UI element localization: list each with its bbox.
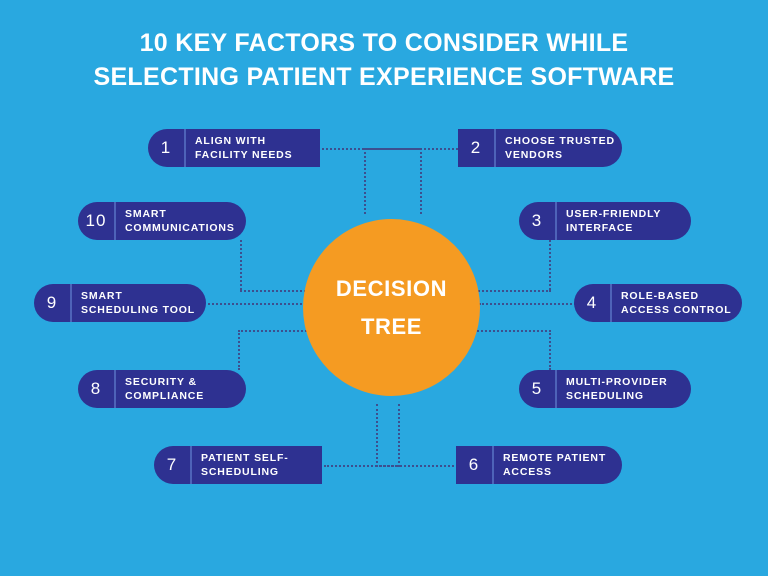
node-10-label-line-1: SMART [125, 207, 236, 221]
node-3-label-line-1: USER-FRIENDLY [566, 207, 681, 221]
node-8-label-line-1: SECURITY & [125, 375, 236, 389]
node-9-number: 9 [34, 284, 72, 322]
node-8-label: SECURITY & COMPLIANCE [116, 370, 246, 408]
node-6-label: REMOTE PATIENT ACCESS [494, 446, 622, 484]
node-10-label-line-2: COMMUNICATIONS [125, 221, 236, 235]
node-4-number: 4 [574, 284, 612, 322]
node-3-label: USER-FRIENDLY INTERFACE [557, 202, 691, 240]
center-label-line-2: TREE [361, 308, 422, 345]
node-1-number: 1 [148, 129, 186, 167]
connector-node-1-vertical [420, 148, 422, 214]
node-5-label-line-2: SCHEDULING [566, 389, 681, 403]
connector-node-8-vertical [238, 330, 240, 370]
node-7-label-line-2: SCHEDULING [201, 465, 312, 479]
node-6-label-line-1: REMOTE PATIENT [503, 451, 612, 465]
node-5-multi-provider-scheduling[interactable]: 5 MULTI-PROVIDER SCHEDULING [519, 370, 691, 408]
infographic-canvas: 10 KEY FACTORS TO CONSIDER WHILE SELECTI… [0, 0, 768, 576]
node-1-label-line-1: ALIGN WITH [195, 134, 310, 148]
node-9-label-line-1: SMART [81, 289, 196, 303]
node-5-label-line-1: MULTI-PROVIDER [566, 375, 681, 389]
node-10-number: 10 [78, 202, 116, 240]
node-2-number: 2 [458, 129, 496, 167]
center-node-decision-tree: DECISION TREE [303, 219, 480, 396]
node-4-label-line-2: ACCESS CONTROL [621, 303, 732, 317]
node-9-label-line-2: SCHEDULING TOOL [81, 303, 196, 317]
node-9-smart-scheduling-tool[interactable]: 9 SMART SCHEDULING TOOL [34, 284, 206, 322]
connector-node-3-vertical [549, 240, 551, 290]
page-title: 10 KEY FACTORS TO CONSIDER WHILE SELECTI… [0, 26, 768, 94]
node-4-label: ROLE-BASED ACCESS CONTROL [612, 284, 742, 322]
node-7-number: 7 [154, 446, 192, 484]
node-6-label-line-2: ACCESS [503, 465, 612, 479]
node-6-number: 6 [456, 446, 494, 484]
node-4-label-line-1: ROLE-BASED [621, 289, 732, 303]
node-7-label-line-1: PATIENT SELF- [201, 451, 312, 465]
connector-node-6-vertical [376, 404, 378, 467]
node-8-label-line-2: COMPLIANCE [125, 389, 236, 403]
node-3-user-friendly-interface[interactable]: 3 USER-FRIENDLY INTERFACE [519, 202, 691, 240]
node-5-number: 5 [519, 370, 557, 408]
node-7-label: PATIENT SELF- SCHEDULING [192, 446, 322, 484]
title-line-1: 10 KEY FACTORS TO CONSIDER WHILE [0, 26, 768, 60]
node-4-role-based-access-control[interactable]: 4 ROLE-BASED ACCESS CONTROL [574, 284, 742, 322]
node-2-label: CHOOSE TRUSTED VENDORS [496, 129, 625, 167]
node-2-label-line-2: VENDORS [505, 148, 615, 162]
node-8-security-and-compliance[interactable]: 8 SECURITY & COMPLIANCE [78, 370, 246, 408]
node-10-smart-communications[interactable]: 10 SMART COMMUNICATIONS [78, 202, 246, 240]
node-1-label: ALIGN WITH FACILITY NEEDS [186, 129, 320, 167]
node-5-label: MULTI-PROVIDER SCHEDULING [557, 370, 691, 408]
node-7-patient-self-scheduling[interactable]: 7 PATIENT SELF- SCHEDULING [154, 446, 322, 484]
node-1-label-line-2: FACILITY NEEDS [195, 148, 310, 162]
title-line-2: SELECTING PATIENT EXPERIENCE SOFTWARE [0, 60, 768, 94]
connector-node-7-horizontal [324, 465, 400, 467]
connector-node-5-horizontal [466, 330, 551, 332]
node-3-label-line-2: INTERFACE [566, 221, 681, 235]
node-10-label: SMART COMMUNICATIONS [116, 202, 246, 240]
node-8-number: 8 [78, 370, 116, 408]
connector-node-7-vertical [398, 404, 400, 467]
center-label-line-1: DECISION [336, 270, 447, 307]
connector-node-4-horizontal [479, 303, 576, 305]
connector-node-10-vertical [240, 240, 242, 290]
connector-node-2-horizontal [364, 148, 458, 150]
node-2-choose-trusted-vendors[interactable]: 2 CHOOSE TRUSTED VENDORS [458, 129, 622, 167]
connector-node-5-vertical [549, 330, 551, 370]
node-9-label: SMART SCHEDULING TOOL [72, 284, 206, 322]
connector-node-9-horizontal [208, 303, 306, 305]
node-3-number: 3 [519, 202, 557, 240]
node-2-label-line-1: CHOOSE TRUSTED [505, 134, 615, 148]
node-1-align-with-facility-needs[interactable]: 1 ALIGN WITH FACILITY NEEDS [148, 129, 320, 167]
connector-node-2-vertical [364, 148, 366, 214]
node-6-remote-patient-access[interactable]: 6 REMOTE PATIENT ACCESS [456, 446, 622, 484]
